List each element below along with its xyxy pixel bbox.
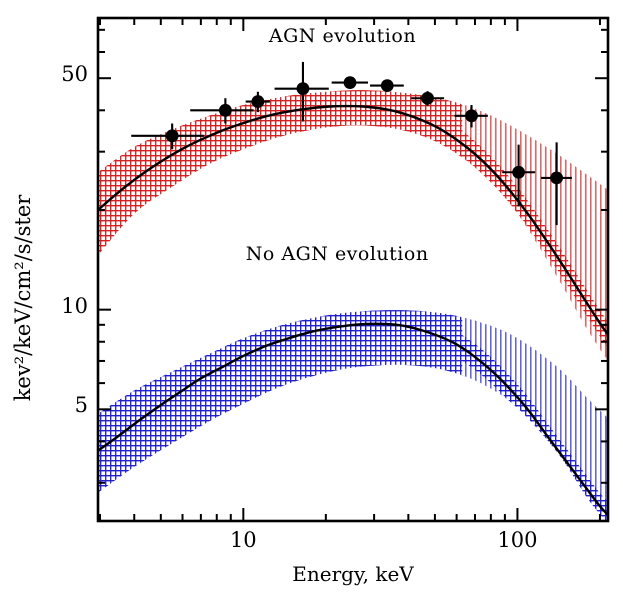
annotation-no-agn-evolution: No AGN evolution (246, 243, 429, 265)
y-tick-label-wrapper: 5 (40, 393, 88, 417)
x-tick-label: 10 (230, 528, 257, 552)
x-axis-label: Energy, keV (292, 562, 413, 586)
figure-container: kev²/keV/cm²/s/ster Energy, keV 51050 10… (0, 0, 623, 595)
x-tick-label: 100 (497, 528, 537, 552)
y-axis-label: kev²/keV/cm²/s/ster (11, 195, 35, 402)
y-tick-label: 50 (40, 62, 88, 86)
y-tick-label: 10 (40, 294, 88, 318)
y-tick-label: 5 (40, 393, 88, 417)
annotation-agn-evolution: AGN evolution (269, 25, 416, 47)
y-tick-label-wrapper: 10 (40, 294, 88, 318)
y-tick-label-wrapper: 50 (40, 62, 88, 86)
no-agn-evolution-band (98, 310, 608, 528)
chart-plot-area (0, 0, 623, 595)
